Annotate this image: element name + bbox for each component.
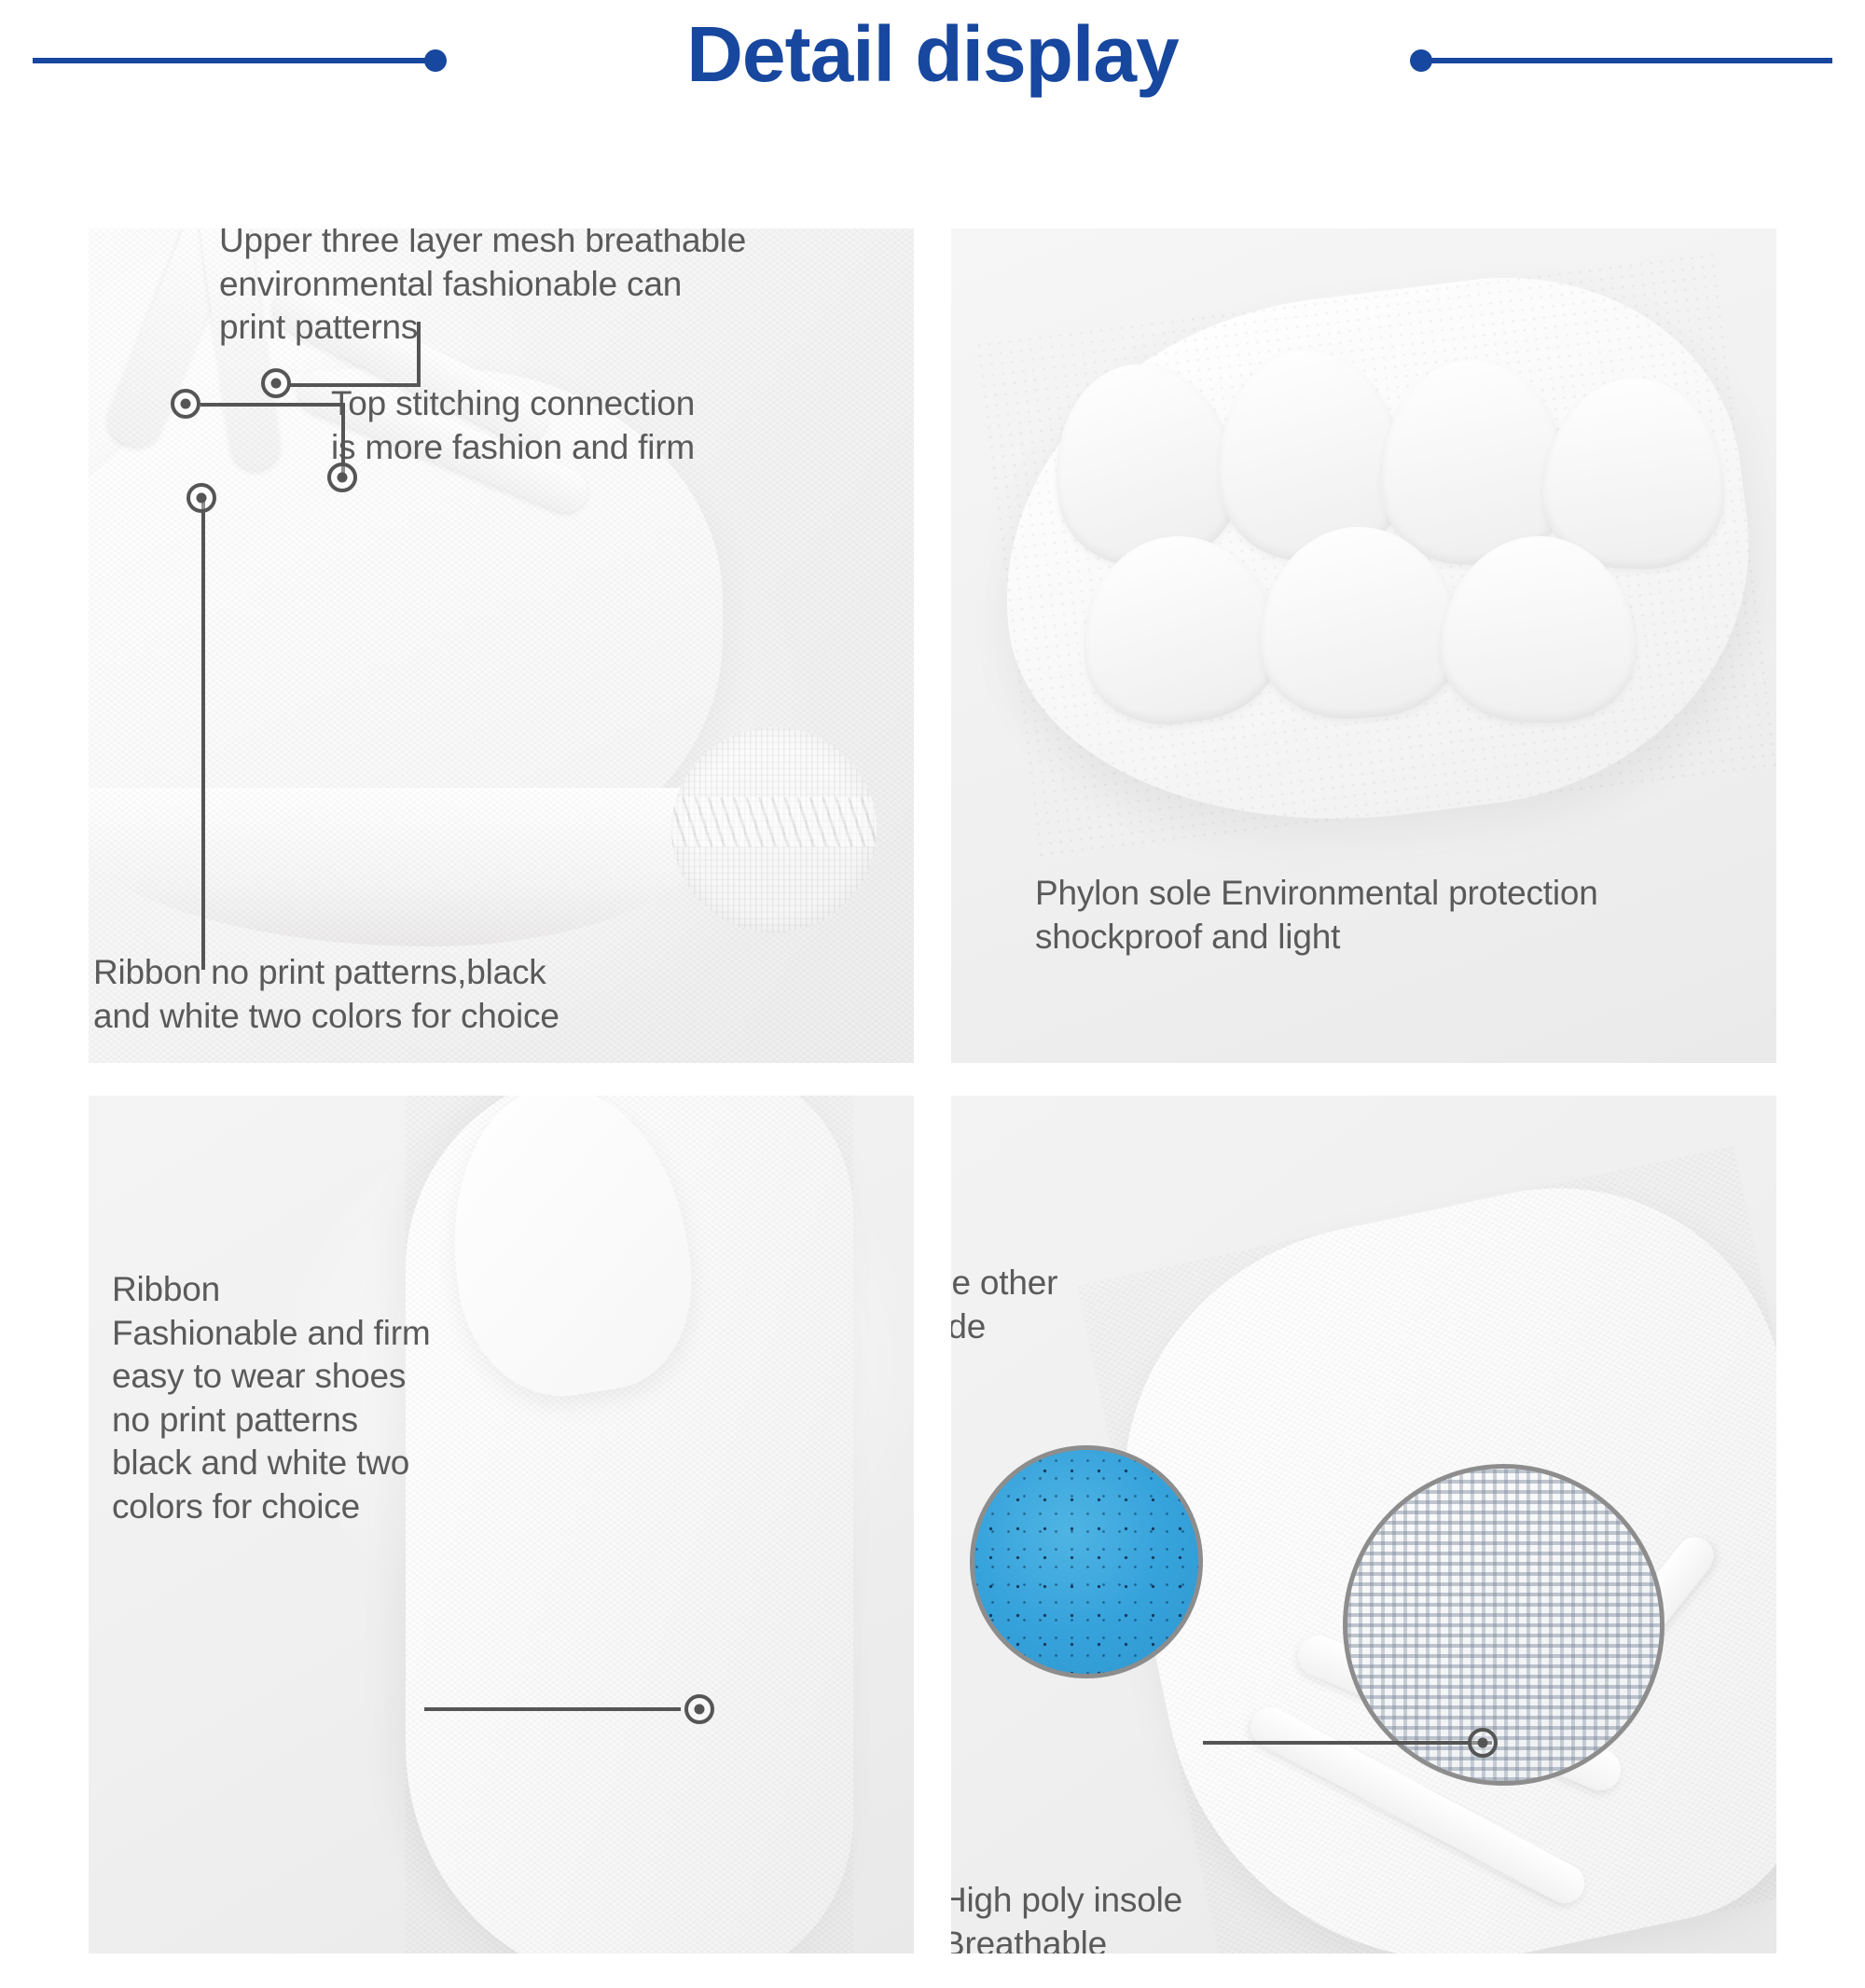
insole-panel: the other side High poly insole Breathab… <box>951 1096 1776 1953</box>
stitch-band <box>671 797 877 847</box>
shoe-upper-photo <box>89 228 914 1063</box>
connector-d-vertical <box>417 322 421 385</box>
mesh-weave-texture <box>1347 1469 1660 1781</box>
mesh-texture <box>89 228 914 1063</box>
insole-speckle-texture <box>974 1450 1198 1674</box>
phylon-sole-panel: Phylon sole Environmental protection sho… <box>951 228 1776 1063</box>
connector-a-horizontal <box>200 403 345 407</box>
note-ribbon-collar: Ribbon Fashionable and firm easy to wear… <box>112 1268 597 1529</box>
ribbon-collar-panel: Ribbon Fashionable and firm easy to wear… <box>89 1096 914 1953</box>
connector-d-horizontal <box>290 383 421 387</box>
detail-panel-grid: Upper three layer mesh breathable enviro… <box>89 228 1776 1953</box>
callout-marker-ribbon[interactable] <box>186 483 216 513</box>
connector-insole-horizontal <box>1203 1741 1492 1745</box>
callout-marker-mesh-2[interactable] <box>327 462 357 492</box>
note-phylon-sole: Phylon sole Environmental protection sho… <box>1035 872 1744 959</box>
note-top-stitching: Top stitching connection is more fashion… <box>331 382 816 469</box>
callout-marker-insole[interactable] <box>1468 1728 1498 1758</box>
upper-mesh-panel: Upper three layer mesh breathable enviro… <box>89 228 914 1063</box>
callout-marker-stitching[interactable] <box>261 368 291 398</box>
note-high-poly-insole: High poly insole Breathable Deodorant <box>951 1879 1333 1953</box>
note-ribbon-colors: Ribbon no print patterns,black and white… <box>93 951 690 1038</box>
note-other-side: the other side <box>951 1262 1184 1348</box>
insole-zoom-inset <box>970 1445 1203 1678</box>
note-upper-mesh: Upper three layer mesh breathable enviro… <box>219 228 835 350</box>
connector-collar-horizontal <box>424 1707 681 1711</box>
callout-marker-collar[interactable] <box>684 1694 714 1724</box>
page-header: Detail display <box>0 0 1865 196</box>
callout-marker-mesh[interactable] <box>171 389 200 419</box>
connector-b-vertical <box>201 499 205 970</box>
header-rule-right <box>1422 58 1832 63</box>
page-title: Detail display <box>0 9 1865 100</box>
stitching-zoom-inset <box>671 727 877 932</box>
mesh-zoom-inset <box>1343 1464 1665 1786</box>
